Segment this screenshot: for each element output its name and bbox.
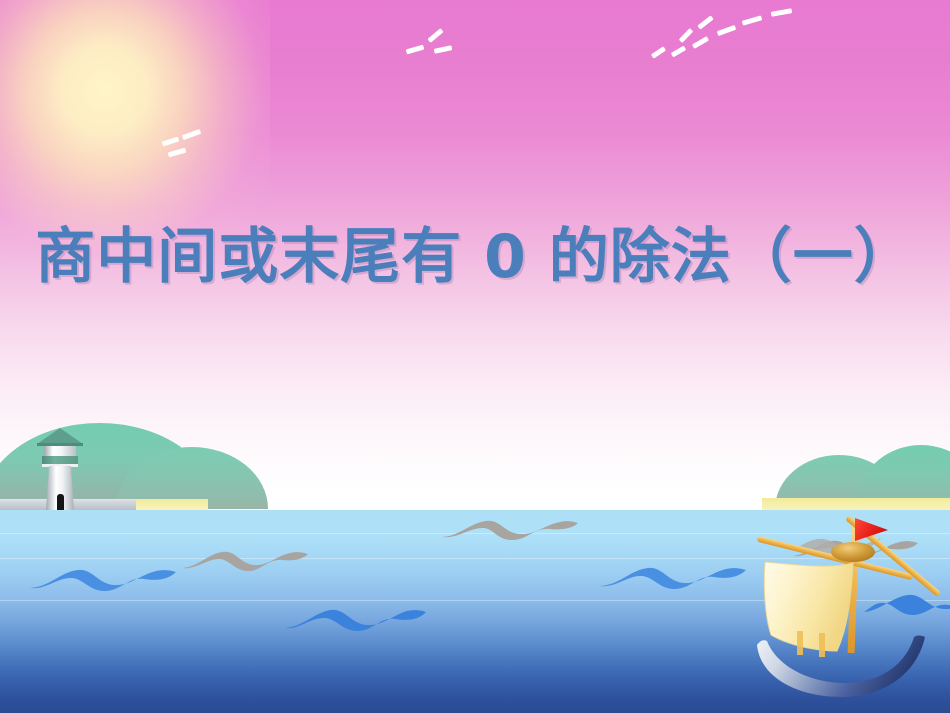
lighthouse: [30, 428, 90, 510]
boat-sail-rib-2: [819, 633, 825, 657]
wave-blue-3: [283, 607, 428, 635]
boat-crows-nest: [831, 542, 875, 562]
title-container: 商中间或末尾有 0 的除法（一）: [0, 221, 950, 293]
wave-gray-1: [180, 548, 310, 574]
wave-blue-1: [28, 567, 178, 595]
lighthouse-roof-icon: [37, 428, 83, 444]
lighthouse-lamp-room: [44, 446, 76, 456]
slide-canvas: 商中间或末尾有 0 的除法（一）: [0, 0, 950, 713]
boat-sail-rib-1: [797, 631, 803, 655]
boat-sail: [764, 562, 853, 651]
sailboat: [745, 505, 950, 700]
wave-gray-2: [440, 518, 580, 544]
boat-hull: [757, 636, 925, 698]
page-title: 商中间或末尾有 0 的除法（一）: [35, 221, 915, 293]
wave-blue-2: [598, 565, 748, 593]
